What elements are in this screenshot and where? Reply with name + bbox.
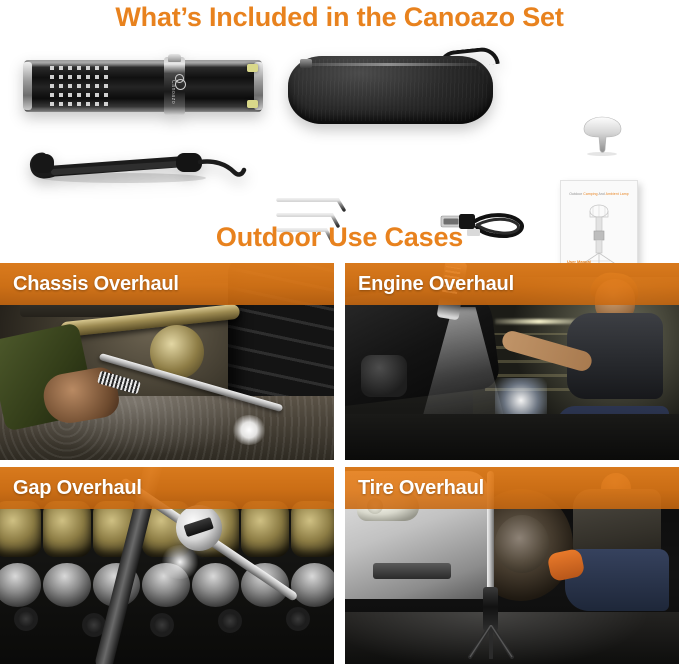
case-zipper-pull — [300, 59, 312, 68]
tire-label-band: Tire Overhaul — [345, 467, 679, 509]
product-infographic-page: What’s Included in the Canoazo Set Canoa… — [0, 0, 679, 667]
engine-floor — [345, 414, 679, 460]
conrod-ring — [218, 609, 242, 633]
gap-light-flare — [160, 545, 200, 579]
metal-hook-image — [578, 116, 626, 156]
crank-lobe — [43, 501, 90, 557]
led-lamp-bar-image: Canoazo — [24, 60, 262, 112]
crank-journal — [43, 563, 90, 607]
tripod-legs-svg — [467, 625, 515, 659]
manual-title-part-4: Ambient Lamp — [606, 192, 629, 196]
lamp-led-grid — [50, 66, 108, 106]
manual-title-part-1: Outdoor — [569, 192, 582, 196]
conrod-ring — [286, 607, 310, 631]
manual-cover-title: Outdoor Camping And Ambient Lamp — [561, 192, 637, 196]
page-title-whats-included: What’s Included in the Canoazo Set — [0, 2, 679, 33]
case-texture — [291, 59, 490, 121]
wrist-lanyard-image — [28, 148, 250, 190]
tripod-legs — [467, 625, 515, 659]
crank-journal — [291, 563, 334, 607]
engine-label-band: Engine Overhaul — [345, 263, 679, 305]
chassis-label-text: Chassis Overhaul — [0, 273, 179, 296]
panel-engine-overhaul: Engine Overhaul — [345, 263, 679, 460]
case-body — [288, 56, 493, 124]
lamp-logo-rings-icon — [175, 74, 184, 83]
panel-tire-overhaul: Tire Overhaul — [345, 467, 679, 664]
chassis-label-band: Chassis Overhaul — [0, 263, 334, 305]
manual-title-part-3: And — [598, 192, 604, 196]
lamp-contact-top — [247, 64, 258, 72]
section-title-outdoor-use-cases: Outdoor Use Cases — [0, 222, 679, 253]
lanyard-svg — [28, 148, 250, 190]
crank-journal — [192, 563, 239, 607]
metal-hook-svg — [578, 116, 626, 156]
crank-journal — [0, 563, 41, 607]
crank-lobe — [0, 501, 41, 557]
tire-label-text: Tire Overhaul — [345, 477, 484, 500]
case-zipper — [298, 63, 477, 66]
truck-wheel-hub — [495, 515, 549, 573]
gap-label-text: Gap Overhaul — [0, 477, 142, 500]
chassis-light-glow — [232, 415, 266, 445]
crank-lobe — [291, 501, 334, 557]
gap-label-band: Gap Overhaul — [0, 467, 334, 509]
truck-step — [373, 563, 451, 579]
use-case-panels-grid: Chassis Overhaul — [0, 263, 679, 667]
lamp-brand-text: Canoazo — [170, 80, 176, 104]
panel-chassis-overhaul: Chassis Overhaul — [0, 263, 334, 460]
engine-label-text: Engine Overhaul — [345, 273, 514, 296]
carry-case-image — [288, 56, 493, 124]
included-items-group: Canoazo — [0, 48, 679, 220]
manual-title-part-2: Camping — [583, 192, 597, 196]
conrod-ring — [14, 607, 38, 631]
engine-component — [361, 355, 407, 397]
panel-gap-overhaul: Gap Overhaul — [0, 467, 334, 664]
conrod-ring — [150, 613, 174, 637]
lamp-contact-bottom — [247, 100, 258, 108]
lamp-end-cap-left — [23, 62, 32, 110]
lamp-adjust-knob — [168, 54, 181, 62]
crank-lobe — [241, 501, 288, 557]
